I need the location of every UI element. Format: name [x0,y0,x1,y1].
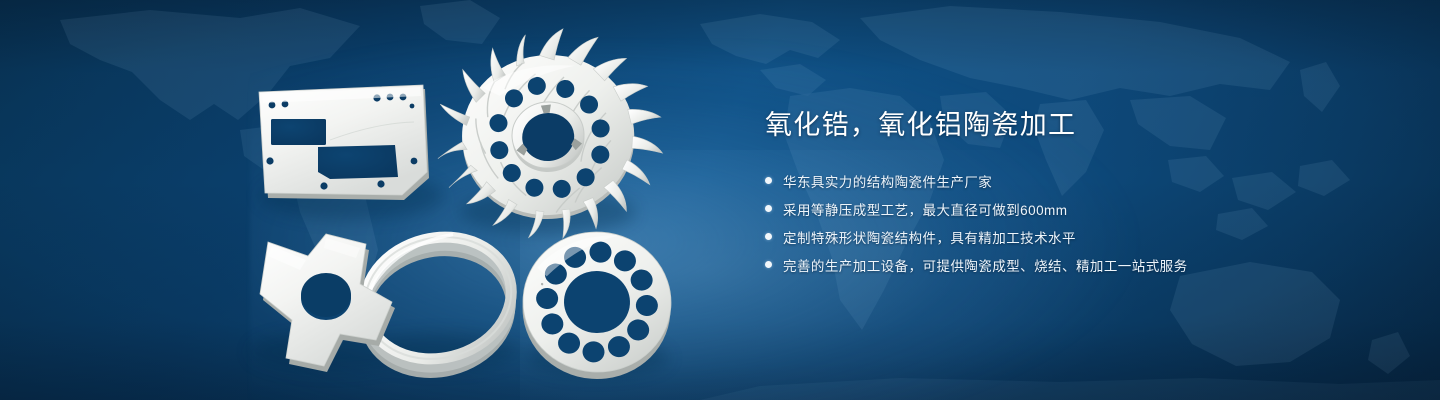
bullet-dot-icon [765,261,772,268]
banner-headline: 氧化锆，氧化铝陶瓷加工 [765,108,1385,144]
list-item: 完善的生产加工设备，可提供陶瓷成型、烧结、精加工一站式服务 [765,255,1385,275]
list-item: 华东具实力的结构陶瓷件生产厂家 [765,171,1385,191]
bullet-dot-icon [765,205,772,212]
feature-text: 完善的生产加工设备，可提供陶瓷成型、烧结、精加工一站式服务 [783,255,1188,275]
list-item: 定制特殊形状陶瓷结构件，具有精加工技术水平 [765,227,1385,247]
bullet-dot-icon [765,177,772,184]
banner-text-block: 氧化锆，氧化铝陶瓷加工 华东具实力的结构陶瓷件生产厂家 采用等静压成型工艺，最大… [765,108,1385,283]
feature-text: 定制特殊形状陶瓷结构件，具有精加工技术水平 [783,227,1076,247]
feature-list: 华东具实力的结构陶瓷件生产厂家 采用等静压成型工艺，最大直径可做到600mm 定… [765,171,1385,275]
list-item: 采用等静压成型工艺，最大直径可做到600mm [765,199,1385,219]
promo-banner: 氧化锆，氧化铝陶瓷加工 华东具实力的结构陶瓷件生产厂家 采用等静压成型工艺，最大… [0,0,1440,400]
feature-text: 采用等静压成型工艺，最大直径可做到600mm [783,199,1067,219]
feature-text: 华东具实力的结构陶瓷件生产厂家 [783,171,992,191]
bullet-dot-icon [765,233,772,240]
